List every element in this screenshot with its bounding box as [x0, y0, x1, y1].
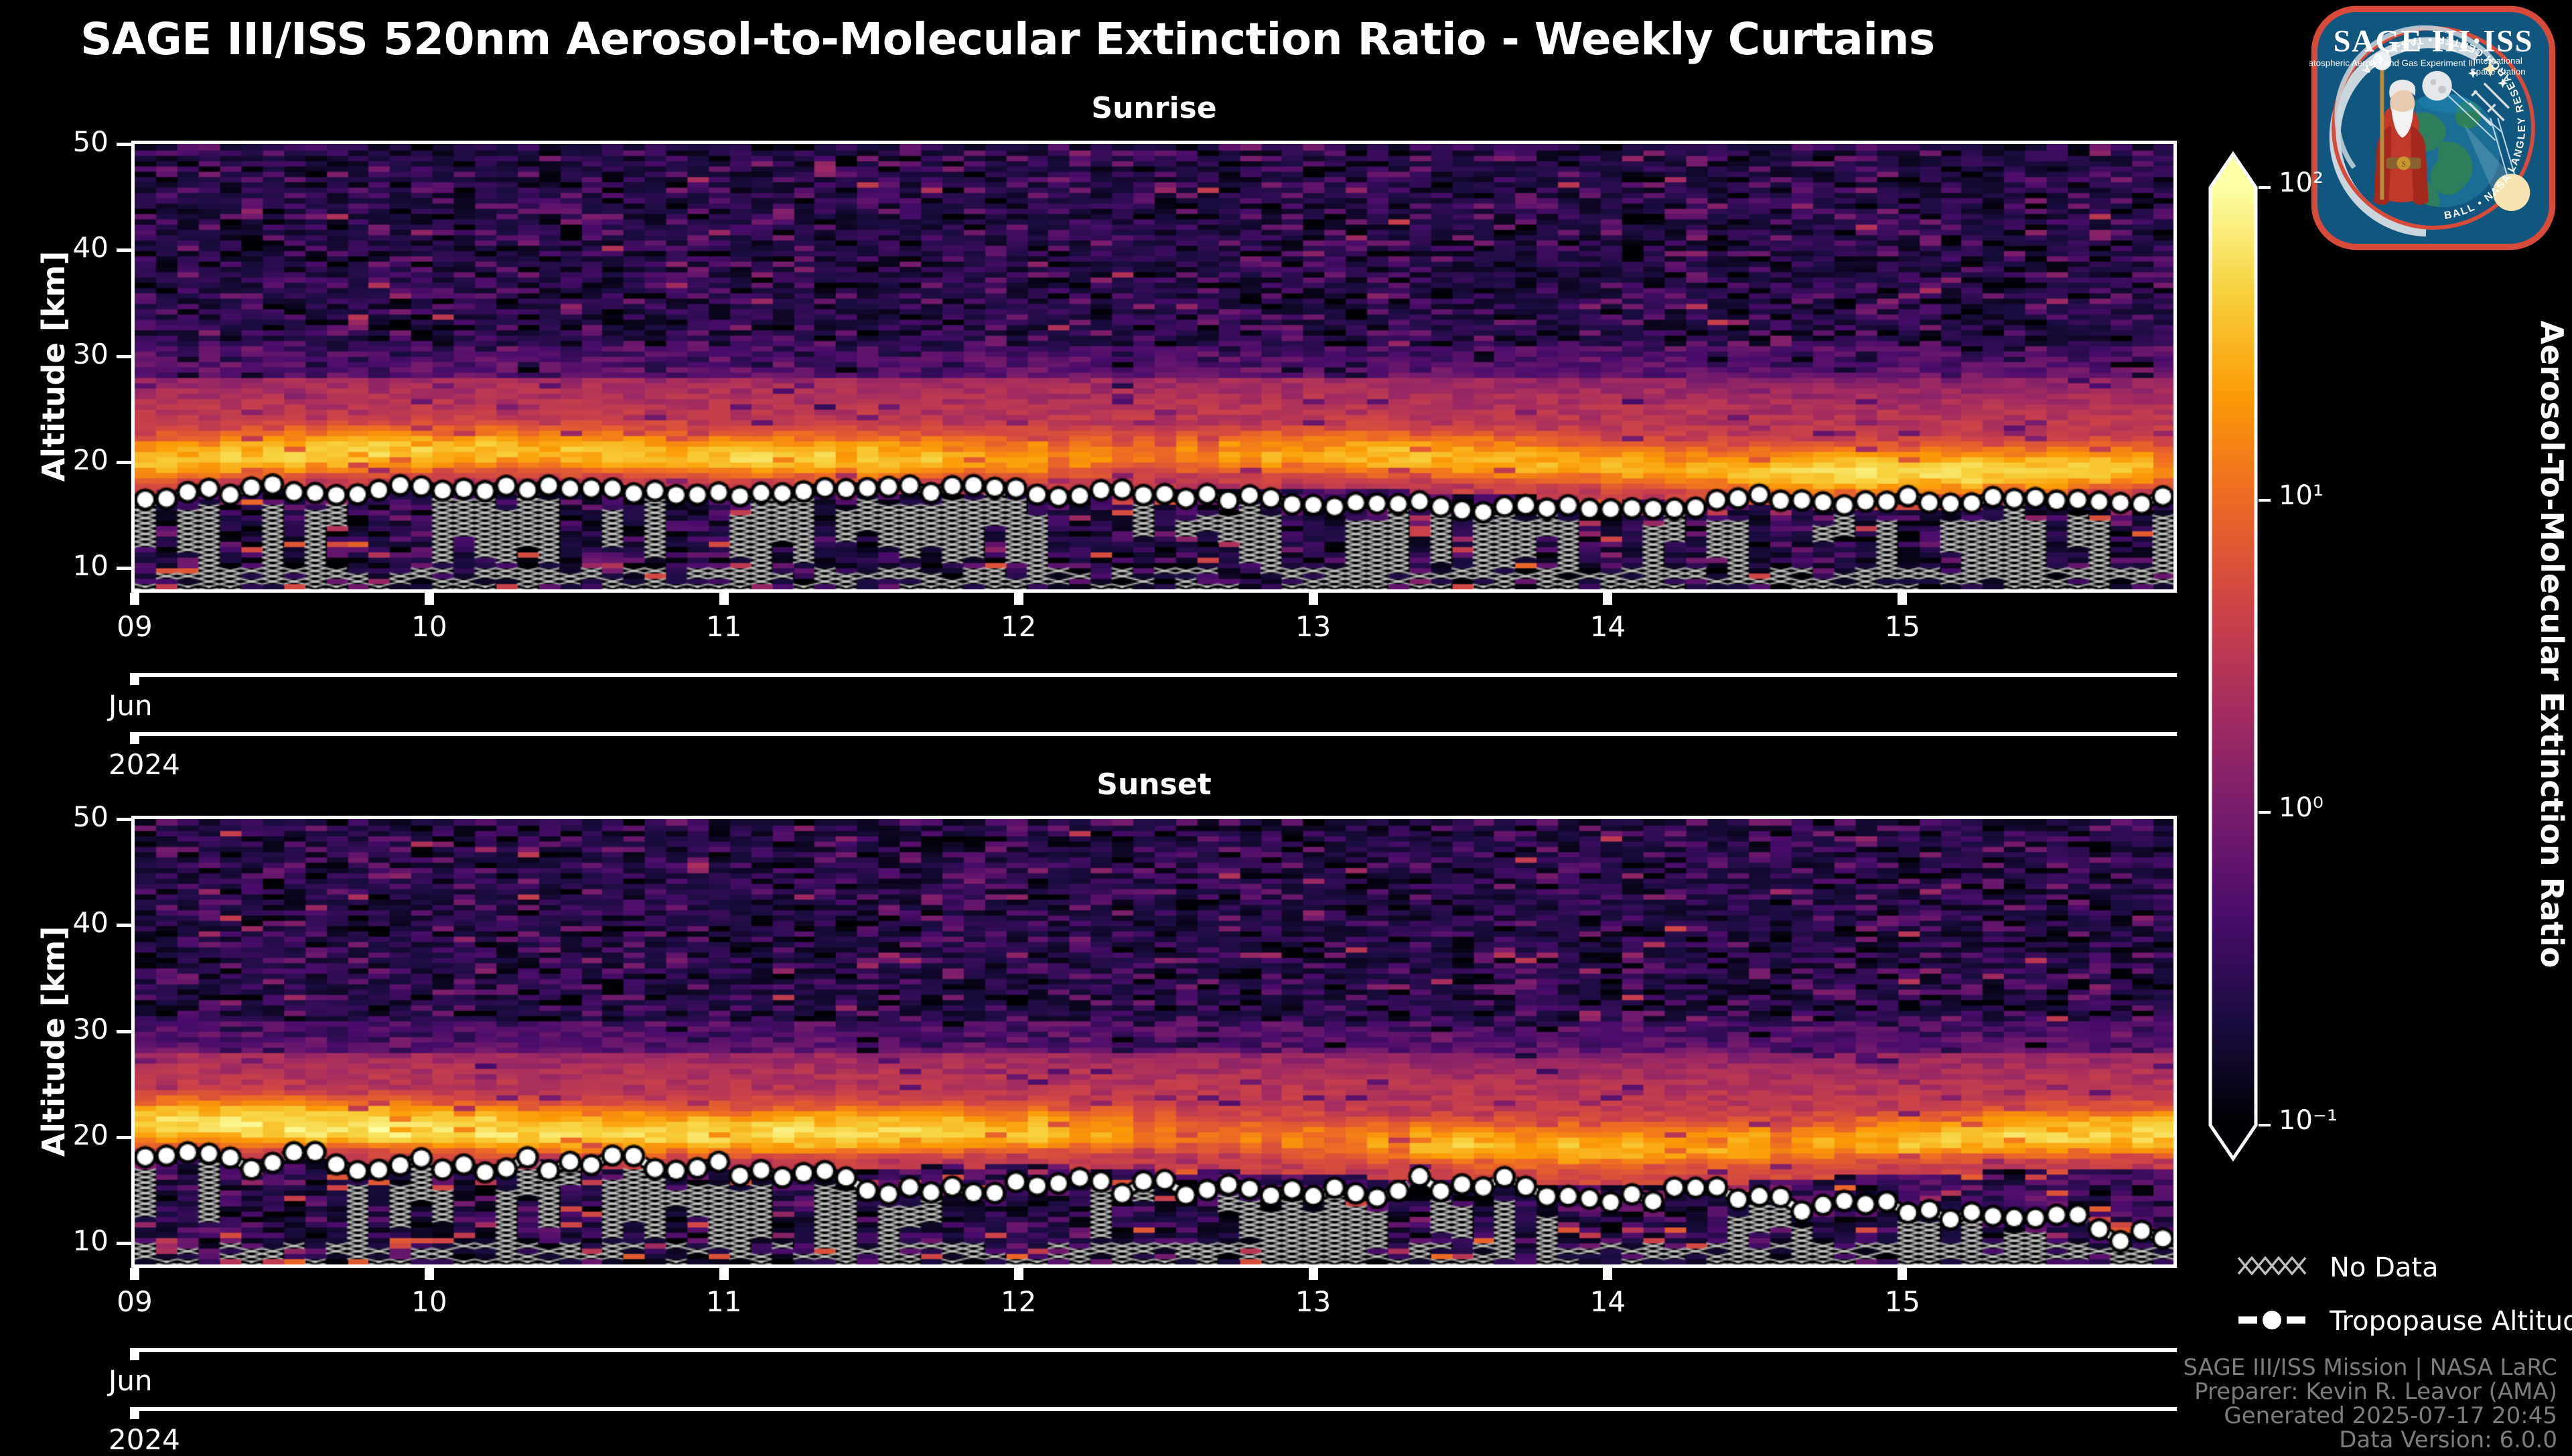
y-tick-label-1-3: 20: [0, 1118, 109, 1151]
x-tick-label-0-2: 11: [664, 610, 784, 643]
month-band-tick-0: [130, 673, 139, 685]
footer-line-2: Generated 2025-07-17 20:45: [1701, 1402, 2557, 1429]
y-tick-label-1-2: 30: [0, 1013, 109, 1045]
y-tick-label-0-0: 50: [0, 125, 109, 158]
svg-text:Stratospheric Aerosol and Gas: Stratospheric Aerosol and Gas Experiment…: [2309, 58, 2476, 68]
month-band-line-1: [131, 1348, 2177, 1352]
year-label-0: 2024: [109, 748, 180, 781]
x-tick-label-0-5: 14: [1547, 610, 1668, 643]
y-tick-label-0-2: 30: [0, 338, 109, 370]
y-tickmark-0-2: [117, 355, 131, 358]
x-tickmark-0-0: [130, 593, 139, 605]
y-tickmark-0-1: [117, 248, 131, 252]
y-tick-label-1-4: 10: [0, 1224, 109, 1257]
x-tickmark-1-2: [719, 1268, 729, 1280]
x-tickmark-0-5: [1603, 593, 1612, 605]
year-band-line-0: [131, 732, 2177, 736]
x-tick-label-0-1: 10: [369, 610, 490, 643]
y-tickmark-1-0: [117, 818, 131, 821]
x-tickmark-0-3: [1014, 593, 1023, 605]
y-tickmark-0-4: [117, 567, 131, 570]
heatmap-canvas-sunset: [135, 819, 2173, 1264]
x-tickmark-1-6: [1898, 1268, 1907, 1280]
y-tick-label-1-1: 40: [0, 906, 109, 939]
x-tick-label-0-4: 13: [1253, 610, 1374, 643]
legend-label-tropopause: Tropopause Altitude: [2330, 1306, 2572, 1337]
x-tickmark-1-0: [130, 1268, 139, 1280]
legend-swatch-tropopause: [2237, 1305, 2317, 1335]
footer-line-3: Data Version: 6.0.0: [1701, 1427, 2557, 1453]
x-tickmark-1-5: [1603, 1268, 1612, 1280]
footer-line-0: SAGE III/ISS Mission | NASA LaRC: [1701, 1354, 2557, 1381]
colorbar-tickmark-1: [2259, 499, 2271, 502]
heatmap-panel-sunrise[interactable]: [131, 141, 2177, 593]
x-tick-label-0-6: 15: [1842, 610, 1962, 643]
month-band-tick-1: [130, 1348, 139, 1360]
panel-title-sunset: Sunset: [131, 768, 2177, 802]
x-tick-label-0-0: 09: [74, 610, 195, 643]
x-tickmark-1-3: [1014, 1268, 1023, 1280]
colorbar-tick-label-2: 10⁰: [2279, 792, 2324, 823]
x-tick-label-1-1: 10: [369, 1285, 490, 1318]
legend-label-no-data: No Data: [2330, 1252, 2439, 1283]
y-tickmark-1-4: [117, 1242, 131, 1245]
y-tick-label-1-0: 50: [0, 800, 109, 833]
y-tickmark-1-2: [117, 1030, 131, 1033]
x-tickmark-0-6: [1898, 593, 1907, 605]
y-tickmark-1-1: [117, 924, 131, 927]
legend-swatch-no-data: [2237, 1251, 2317, 1282]
y-tickmark-0-3: [117, 461, 131, 464]
year-band-tick-0: [130, 732, 139, 744]
x-tickmark-0-4: [1309, 593, 1318, 605]
x-tickmark-0-1: [425, 593, 434, 605]
month-label-1: Jun: [109, 1364, 153, 1397]
heatmap-canvas-sunrise: [135, 144, 2173, 589]
x-tick-label-1-3: 12: [958, 1285, 1079, 1318]
y-tick-label-0-1: 40: [0, 231, 109, 264]
panel-title-sunrise: Sunrise: [131, 91, 2177, 125]
month-band-line-0: [131, 673, 2177, 677]
page-title: SAGE III/ISS 520nm Aerosol-to-Molecular …: [80, 13, 1935, 65]
y-tickmark-0-0: [117, 143, 131, 146]
month-label-0: Jun: [109, 689, 153, 722]
x-tickmark-1-4: [1309, 1268, 1318, 1280]
colorbar-tickmark-2: [2259, 811, 2271, 814]
colorbar-tickmark-0: [2259, 186, 2271, 189]
colorbar-label: Aerosol-To-Molecular Extinction Ratio: [2534, 283, 2570, 1006]
colorbar-tick-label-0: 10²: [2279, 167, 2324, 198]
heatmap-panel-sunset[interactable]: [131, 816, 2177, 1268]
x-tick-label-1-5: 14: [1547, 1285, 1668, 1318]
x-tickmark-0-2: [719, 593, 729, 605]
y-tick-label-0-3: 20: [0, 443, 109, 476]
x-tick-label-1-4: 13: [1253, 1285, 1374, 1318]
colorbar-tickmark-3: [2259, 1124, 2271, 1126]
colorbar-tick-label-1: 10¹: [2279, 480, 2324, 511]
x-tick-label-1-2: 11: [664, 1285, 784, 1318]
colorbar-tick-label-3: 10⁻¹: [2279, 1105, 2338, 1136]
x-tick-label-0-3: 12: [958, 610, 1079, 643]
colorbar-outline: [2206, 150, 2260, 1163]
footer-line-1: Preparer: Kevin R. Leavor (AMA): [1701, 1378, 2557, 1405]
svg-text:S: S: [2402, 160, 2406, 168]
mission-logo: S SAGE III·ISS Stratospheric Aerosol and…: [2309, 4, 2557, 254]
x-tick-label-1-0: 09: [74, 1285, 195, 1318]
y-tick-label-0-4: 10: [0, 549, 109, 582]
y-tickmark-1-3: [117, 1136, 131, 1139]
year-label-1: 2024: [109, 1423, 180, 1456]
x-tickmark-1-1: [425, 1268, 434, 1280]
x-tick-label-1-6: 15: [1842, 1285, 1962, 1318]
year-band-tick-1: [130, 1407, 139, 1419]
